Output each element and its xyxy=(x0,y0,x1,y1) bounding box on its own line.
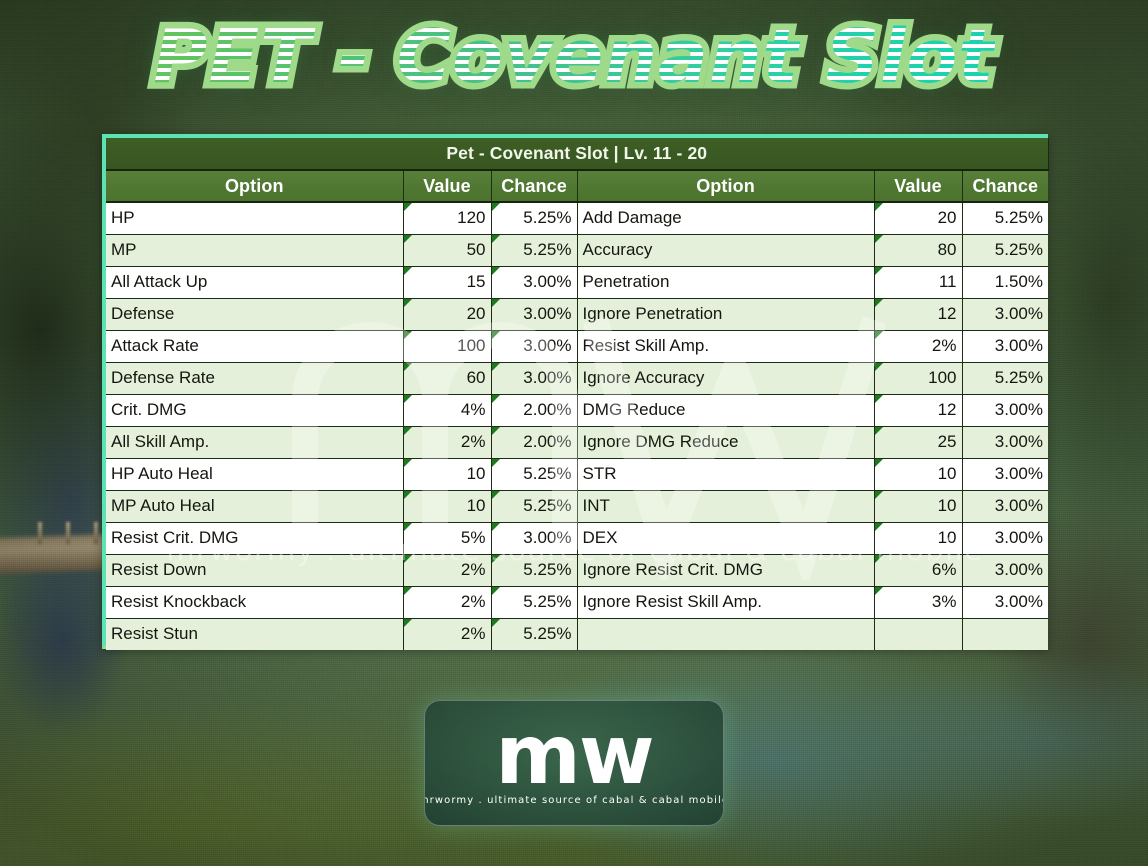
chance-cell-left: 5.25% xyxy=(491,554,577,586)
screenshot-root: PET - Covenant Slot PET - Covenant Slot … xyxy=(0,0,1148,866)
chance-cell-right: 5.25% xyxy=(962,202,1048,234)
column-header-chance-right[interactable]: Chance xyxy=(962,170,1048,202)
value-cell-left: 15 xyxy=(403,266,491,298)
chance-cell-right: 3.00% xyxy=(962,554,1048,586)
brand-logo-card: mw mrwormy . ultimate source of cabal & … xyxy=(424,700,724,826)
value-cell-right: 25 xyxy=(874,426,962,458)
option-cell-left: Defense Rate xyxy=(106,362,403,394)
chance-cell-left: 2.00% xyxy=(491,394,577,426)
value-cell-left: 50 xyxy=(403,234,491,266)
value-cell-left: 120 xyxy=(403,202,491,234)
value-cell-right: 10 xyxy=(874,522,962,554)
value-cell-right: 10 xyxy=(874,458,962,490)
option-cell-right: Accuracy xyxy=(577,234,874,266)
chance-cell-right: 5.25% xyxy=(962,362,1048,394)
option-cell-right: Ignore DMG Reduce xyxy=(577,426,874,458)
brand-logo-tagline: mrwormy . ultimate source of cabal & cab… xyxy=(424,795,724,806)
value-cell-right: 80 xyxy=(874,234,962,266)
value-cell-right: 100 xyxy=(874,362,962,394)
table-caption: Pet - Covenant Slot | Lv. 11 - 20 xyxy=(106,138,1048,170)
option-cell-left: HP xyxy=(106,202,403,234)
chance-cell-left: 5.25% xyxy=(491,586,577,618)
chance-cell-right: 3.00% xyxy=(962,298,1048,330)
table-caption-row: Pet - Covenant Slot | Lv. 11 - 20 xyxy=(106,138,1048,170)
value-cell-left: 2% xyxy=(403,618,491,650)
page-title: PET - Covenant Slot PET - Covenant Slot xyxy=(0,8,1148,116)
chance-cell-right: 3.00% xyxy=(962,586,1048,618)
table-header-row: OptionValueChanceOptionValueChance xyxy=(106,170,1048,202)
covenant-slot-table: Pet - Covenant Slot | Lv. 11 - 20OptionV… xyxy=(102,134,1048,649)
chance-cell-left: 5.25% xyxy=(491,618,577,650)
value-cell-right: 10 xyxy=(874,490,962,522)
option-cell-right: Resist Skill Amp. xyxy=(577,330,874,362)
option-cell-right: Add Damage xyxy=(577,202,874,234)
value-cell-left: 2% xyxy=(403,586,491,618)
chance-cell-right: 3.00% xyxy=(962,394,1048,426)
stats-table-body: Pet - Covenant Slot | Lv. 11 - 20OptionV… xyxy=(106,138,1048,650)
option-cell-left: Attack Rate xyxy=(106,330,403,362)
table-row: Crit. DMG4%2.00%DMG Reduce123.00% xyxy=(106,394,1048,426)
option-cell-right: Penetration xyxy=(577,266,874,298)
chance-cell-left: 3.00% xyxy=(491,330,577,362)
chance-cell-left: 2.00% xyxy=(491,426,577,458)
value-cell-right: 11 xyxy=(874,266,962,298)
table-row: All Attack Up153.00%Penetration111.50% xyxy=(106,266,1048,298)
option-cell-left: HP Auto Heal xyxy=(106,458,403,490)
value-cell-right: 12 xyxy=(874,298,962,330)
page-title-text: PET - Covenant Slot xyxy=(153,20,994,94)
value-cell-left: 100 xyxy=(403,330,491,362)
table-row: Defense Rate603.00%Ignore Accuracy1005.2… xyxy=(106,362,1048,394)
chance-cell-right: 3.00% xyxy=(962,458,1048,490)
value-cell-left: 20 xyxy=(403,298,491,330)
column-header-value-right[interactable]: Value xyxy=(874,170,962,202)
table-row: Resist Down2%5.25%Ignore Resist Crit. DM… xyxy=(106,554,1048,586)
table-row: All Skill Amp.2%2.00%Ignore DMG Reduce25… xyxy=(106,426,1048,458)
chance-cell-left: 5.25% xyxy=(491,234,577,266)
option-cell-left: Resist Down xyxy=(106,554,403,586)
chance-cell-right: 5.25% xyxy=(962,234,1048,266)
chance-cell-left: 5.25% xyxy=(491,490,577,522)
option-cell-right: DMG Reduce xyxy=(577,394,874,426)
chance-cell-right: 3.00% xyxy=(962,426,1048,458)
chance-cell-right: 3.00% xyxy=(962,330,1048,362)
column-header-option-left[interactable]: Option xyxy=(106,170,403,202)
table-row: Resist Knockback2%5.25%Ignore Resist Ski… xyxy=(106,586,1048,618)
chance-cell-left: 3.00% xyxy=(491,522,577,554)
stats-table: Pet - Covenant Slot | Lv. 11 - 20OptionV… xyxy=(106,138,1049,650)
option-cell-left: Resist Knockback xyxy=(106,586,403,618)
value-cell-left: 10 xyxy=(403,458,491,490)
column-header-value-left[interactable]: Value xyxy=(403,170,491,202)
column-header-option-right[interactable]: Option xyxy=(577,170,874,202)
value-cell-left: 4% xyxy=(403,394,491,426)
option-cell-right: DEX xyxy=(577,522,874,554)
value-cell-right: 3% xyxy=(874,586,962,618)
table-row: Attack Rate1003.00%Resist Skill Amp.2%3.… xyxy=(106,330,1048,362)
column-header-chance-left[interactable]: Chance xyxy=(491,170,577,202)
chance-cell-left: 3.00% xyxy=(491,298,577,330)
table-row: Defense203.00%Ignore Penetration123.00% xyxy=(106,298,1048,330)
table-row: Resist Stun2%5.25% xyxy=(106,618,1048,650)
value-cell-left: 2% xyxy=(403,554,491,586)
value-cell-right: 2% xyxy=(874,330,962,362)
table-row: MP505.25%Accuracy805.25% xyxy=(106,234,1048,266)
chance-cell-right: 3.00% xyxy=(962,490,1048,522)
value-cell-right: 20 xyxy=(874,202,962,234)
table-row: Resist Crit. DMG5%3.00%DEX103.00% xyxy=(106,522,1048,554)
chance-cell-left: 3.00% xyxy=(491,362,577,394)
option-cell-right xyxy=(577,618,874,650)
option-cell-right: Ignore Resist Skill Amp. xyxy=(577,586,874,618)
option-cell-right: INT xyxy=(577,490,874,522)
value-cell-right xyxy=(874,618,962,650)
chance-cell-left: 5.25% xyxy=(491,202,577,234)
value-cell-left: 60 xyxy=(403,362,491,394)
option-cell-right: STR xyxy=(577,458,874,490)
chance-cell-left: 5.25% xyxy=(491,458,577,490)
option-cell-left: Crit. DMG xyxy=(106,394,403,426)
chance-cell-right: 3.00% xyxy=(962,522,1048,554)
chance-cell-left: 3.00% xyxy=(491,266,577,298)
value-cell-left: 2% xyxy=(403,426,491,458)
option-cell-right: Ignore Resist Crit. DMG xyxy=(577,554,874,586)
option-cell-left: MP xyxy=(106,234,403,266)
value-cell-left: 5% xyxy=(403,522,491,554)
option-cell-left: All Skill Amp. xyxy=(106,426,403,458)
table-row: MP Auto Heal105.25%INT103.00% xyxy=(106,490,1048,522)
chance-cell-right xyxy=(962,618,1048,650)
table-row: HP Auto Heal105.25%STR103.00% xyxy=(106,458,1048,490)
option-cell-left: All Attack Up xyxy=(106,266,403,298)
option-cell-left: Defense xyxy=(106,298,403,330)
table-row: HP1205.25%Add Damage205.25% xyxy=(106,202,1048,234)
value-cell-left: 10 xyxy=(403,490,491,522)
chance-cell-right: 1.50% xyxy=(962,266,1048,298)
option-cell-right: Ignore Accuracy xyxy=(577,362,874,394)
value-cell-right: 6% xyxy=(874,554,962,586)
option-cell-left: Resist Crit. DMG xyxy=(106,522,403,554)
option-cell-left: MP Auto Heal xyxy=(106,490,403,522)
option-cell-left: Resist Stun xyxy=(106,618,403,650)
value-cell-right: 12 xyxy=(874,394,962,426)
option-cell-right: Ignore Penetration xyxy=(577,298,874,330)
brand-logo-mark: mw xyxy=(495,718,652,793)
